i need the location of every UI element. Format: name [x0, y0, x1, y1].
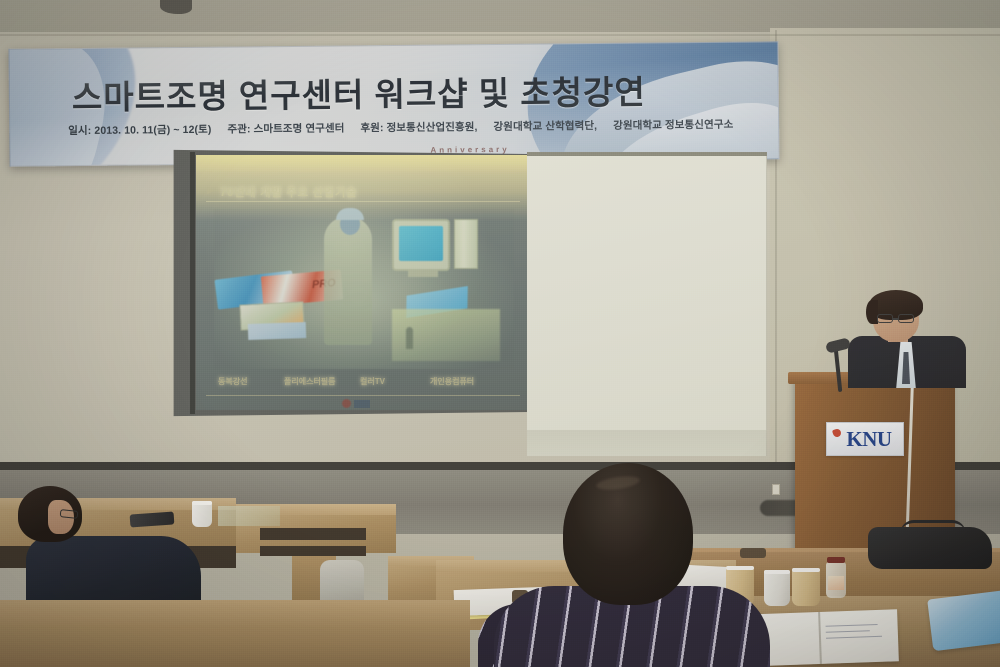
slide-crt-television: [392, 219, 450, 271]
glass-jar-label: [828, 576, 844, 590]
desk-small-object: [740, 548, 766, 558]
podium-logo: KNU: [826, 422, 904, 456]
slide-rule-bottom: [206, 395, 520, 396]
slide-crt-base: [408, 269, 438, 277]
whiteboard: [527, 156, 767, 456]
banner-subtitle-host: 주관: 스마트조명 연구센터: [227, 122, 344, 135]
slide-label-4: 개인용컴퓨터: [430, 376, 474, 387]
glass-jar: [826, 562, 846, 598]
speaker-glasses-right-lens: [898, 314, 914, 323]
paper-cup-3-rim: [792, 568, 820, 572]
banner-subtitle-sponsor-2: 강원대학교 산학협력단,: [493, 120, 597, 133]
banner-subtitle-sponsor-3: 강원대학교 정보통신연구소: [613, 119, 733, 132]
desk-row-mid-shelf-upper: [260, 528, 366, 540]
slide-shelf-items: [454, 219, 478, 269]
speaker-torso: [848, 336, 966, 388]
slide-label-3: 컬러TV: [360, 376, 385, 387]
slide-footer-logo: [314, 398, 384, 410]
notebook-writing-line-1: [826, 624, 878, 627]
glass-jar-lid: [827, 557, 845, 563]
banner-title: 스마트조명 연구센터 워크샵 및 초청강연: [72, 65, 712, 119]
projection-screen: 70년대 개발 주요 산업기술 동복강선 폴리에스터필름 컬러: [196, 155, 530, 410]
lecture-hall-photo: 스마트조명 연구센터 워크샵 및 초청강연 일시: 2013. 10. 11(금…: [0, 0, 1000, 667]
projection-screen-left-edge: [190, 152, 195, 414]
slide-worker-helmet: [336, 208, 364, 220]
blue-book: [927, 589, 1000, 652]
notebook-writing-line-3: [826, 636, 882, 639]
black-bag: [868, 527, 992, 569]
slide-label-2: 폴리에스터필름: [284, 376, 336, 387]
wall-seam-horizontal: [0, 34, 1000, 36]
glass-partition: [218, 506, 280, 526]
slide-product-small-2: [248, 322, 307, 340]
knu-dot-icon: [832, 428, 842, 438]
speaker-glasses-bridge: [892, 318, 899, 320]
wall-outlet: [772, 484, 780, 495]
slide-caption-row: 동복강선 폴리에스터필름 컬러TV 개인용컴퓨터: [196, 376, 530, 392]
front-desk-left: [0, 600, 470, 667]
paper-cup-1-rim: [726, 566, 754, 570]
paper-cup-left-rim: [192, 501, 212, 505]
slide-label-1: 동복강선: [218, 376, 247, 387]
banner-subtitle-sponsor-1: 후원: 정보통신산업진흥원,: [360, 121, 477, 134]
paper-cup-3: [792, 568, 820, 606]
slide-worker-figure: [324, 217, 372, 345]
whiteboard-lower-shadow: [527, 430, 767, 456]
event-banner: 스마트조명 연구센터 워크샵 및 초청강연 일시: 2013. 10. 11(금…: [8, 41, 779, 166]
slide-title: 70년대 개발 주요 산업기술: [220, 184, 357, 200]
slide-factory-scene: [392, 309, 500, 361]
notebook-crease: [818, 612, 822, 664]
banner-subtitle-date: 일시: 2013. 10. 11(금) ~ 12(토): [68, 124, 211, 137]
slide-factory-figure: [406, 327, 413, 349]
paper-cup-left: [192, 501, 212, 527]
speaker-glasses-left-lens: [877, 314, 893, 323]
notebook-writing-line-2: [826, 630, 870, 633]
paper-cup-2: [764, 570, 790, 606]
ceiling-smudge: [160, 0, 192, 14]
slide-crt-screen: [399, 226, 443, 261]
slide-photo-collage: [214, 209, 514, 369]
slide-rule-top: [206, 201, 520, 202]
paper-cup-2-rim: [764, 570, 790, 574]
desk-row-mid-shelf-lower: [260, 546, 366, 556]
podium-logo-text: KNU: [846, 427, 891, 452]
